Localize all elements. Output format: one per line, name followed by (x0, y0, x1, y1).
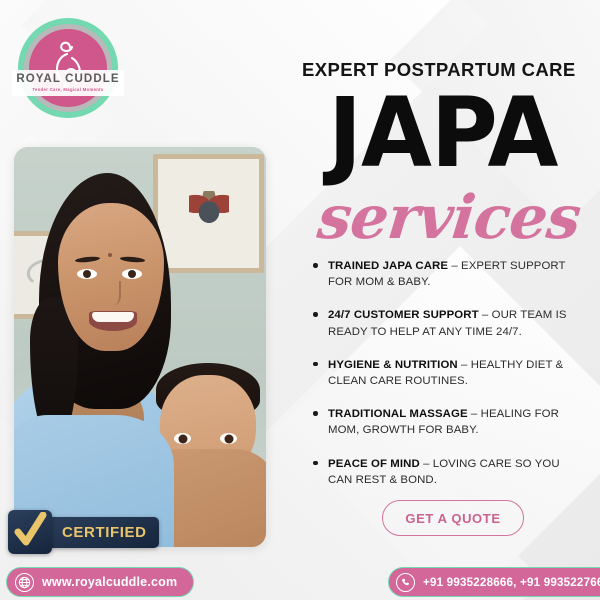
get-a-quote-button[interactable]: GET A QUOTE (382, 500, 524, 536)
wall-art-frame-large (153, 154, 264, 273)
content-column: EXPERT POSTPARTUM CARE JAPA services TRA… (290, 0, 590, 600)
page-title: JAPA (328, 86, 557, 180)
caregiver-face (58, 203, 164, 351)
baby-eye (174, 433, 191, 444)
caregiver-eye (122, 269, 142, 279)
caregiver-teeth (92, 312, 134, 322)
caregiver-bindi (108, 253, 112, 257)
headline-script-word: services (314, 183, 583, 253)
phone-icon (396, 573, 415, 592)
certified-badge: CERTIFIED (8, 512, 159, 552)
caregiver-eye (77, 269, 97, 279)
caregiver-smile (89, 311, 137, 331)
phone-text: +91 9935228666, +91 9935227666 (423, 576, 600, 589)
list-item-title: 24/7 CUSTOMER SUPPORT (328, 309, 479, 321)
list-item-dash: – (471, 408, 477, 420)
caregiver-eyebrow (120, 256, 145, 263)
certified-label: CERTIFIED (42, 517, 159, 548)
website-pill[interactable]: www.royalcuddle.com (6, 567, 194, 597)
list-item: PEACE OF MIND – LOVING CARE SO YOU CAN R… (312, 456, 584, 488)
list-item-dash: – (423, 458, 429, 470)
baby-eye (220, 433, 237, 444)
list-item-title: PEACE OF MIND (328, 458, 420, 470)
list-item-title: TRADITIONAL MASSAGE (328, 408, 468, 420)
logo-name: ROYAL CUDDLE (16, 74, 119, 86)
caregiver-nose (105, 281, 121, 305)
globe-icon (15, 573, 34, 592)
list-item-dash: – (482, 309, 488, 321)
website-text: www.royalcuddle.com (42, 575, 177, 589)
gold-checkmark-icon (8, 510, 52, 554)
list-item: TRADITIONAL MASSAGE – HEALING FOR MOM, G… (312, 406, 584, 438)
logo-nameplate: ROYAL CUDDLE Tender Care, Magical Moment… (12, 70, 124, 96)
list-item: 24/7 CUSTOMER SUPPORT – OUR TEAM IS READ… (312, 307, 584, 339)
poster: ROYAL CUDDLE Tender Care, Magical Moment… (0, 0, 600, 600)
caregiver-eyebrow (75, 256, 100, 264)
hero-photo (14, 147, 266, 547)
list-item-dash: – (461, 359, 467, 371)
list-item: HYGIENE & NUTRITION – HEALTHY DIET & CLE… (312, 357, 584, 389)
list-item-title: TRAINED JAPA CARE (328, 260, 448, 272)
list-item-title: HYGIENE & NUTRITION (328, 359, 458, 371)
logo-tagline: Tender Care, Magical Moments (32, 88, 103, 92)
list-item: TRAINED JAPA CARE – EXPERT SUPPORT FOR M… (312, 258, 584, 290)
phone-pill[interactable]: +91 9935228666, +91 9935227666 (388, 567, 600, 597)
brand-logo[interactable]: ROYAL CUDDLE Tender Care, Magical Moment… (18, 18, 118, 118)
services-list: TRAINED JAPA CARE – EXPERT SUPPORT FOR M… (312, 258, 584, 505)
list-item-dash: – (451, 260, 457, 272)
